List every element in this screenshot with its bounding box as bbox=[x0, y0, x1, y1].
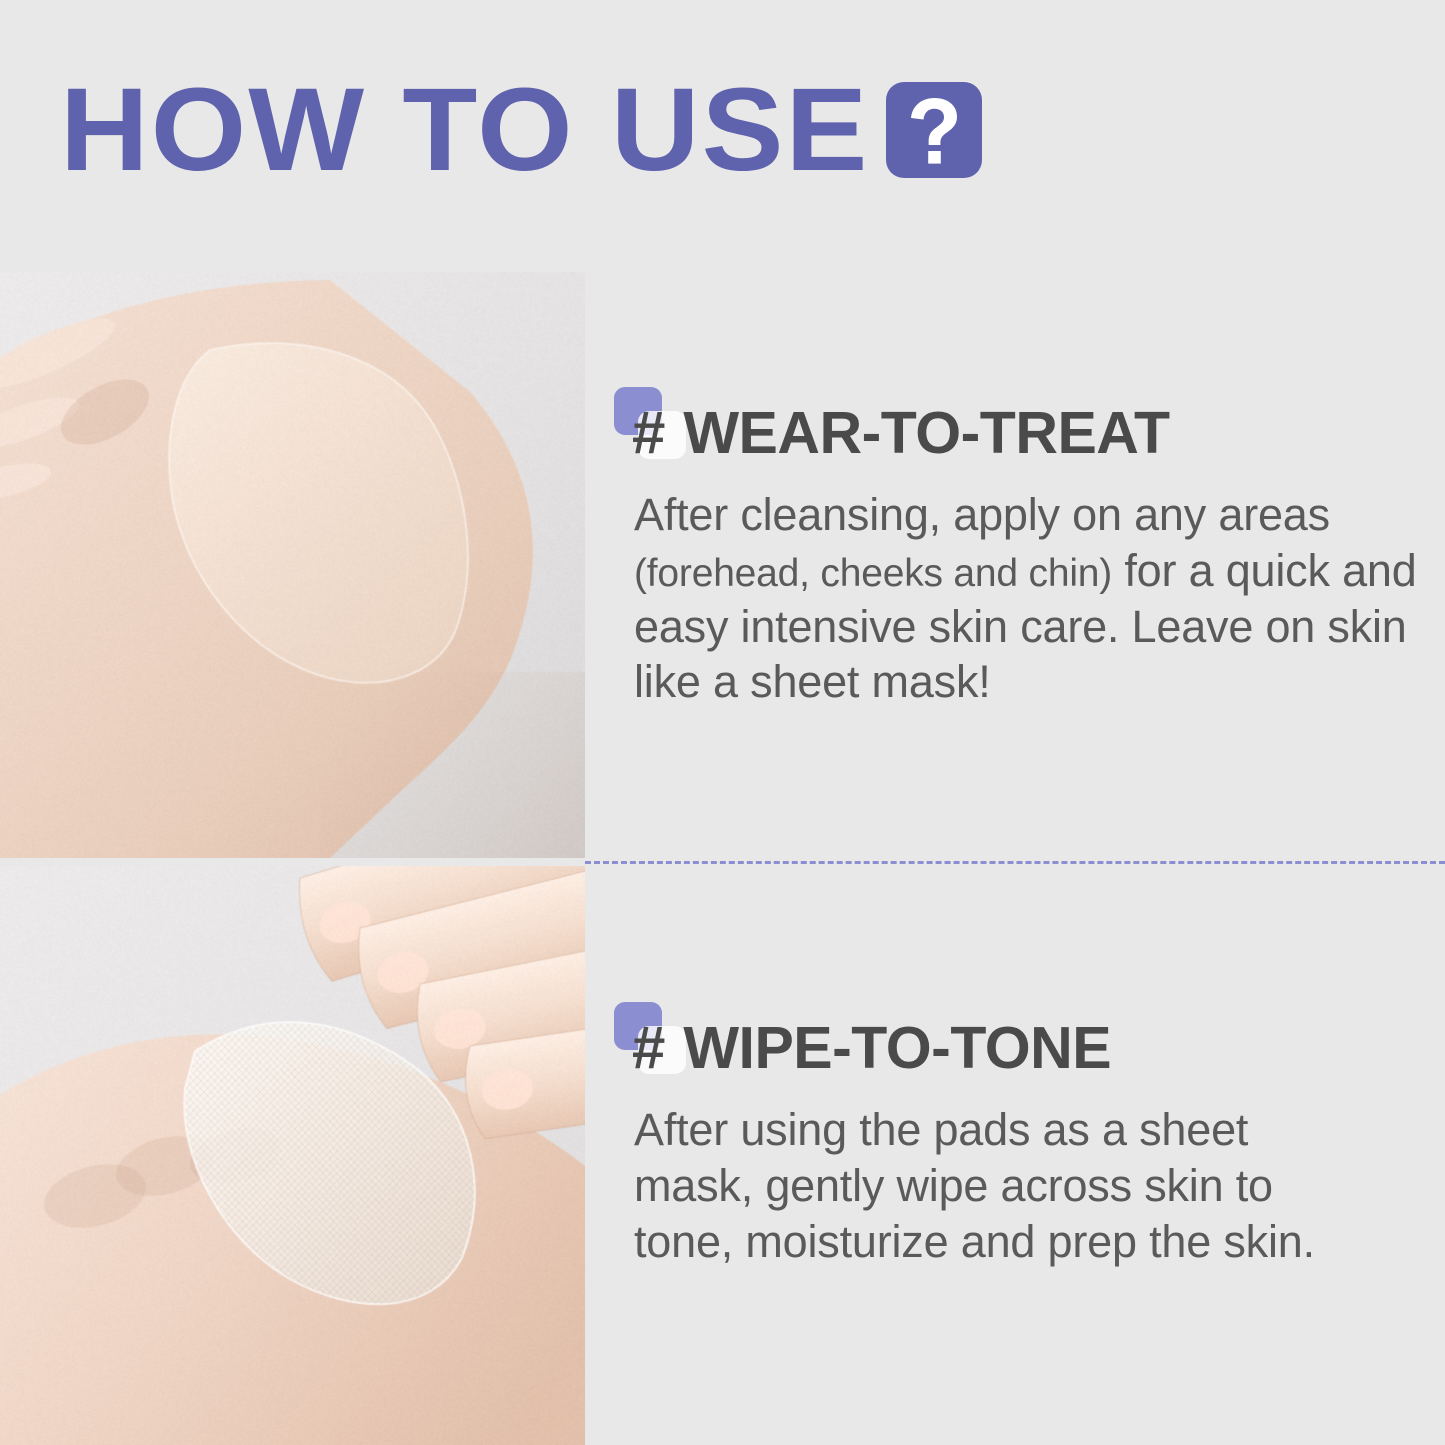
hash-symbol: # bbox=[632, 1018, 665, 1078]
question-mark-icon bbox=[886, 82, 982, 178]
body-part-1: After cleansing, apply on any areas bbox=[634, 489, 1330, 540]
section-body: After using the pads as a sheet mask, ge… bbox=[634, 1102, 1374, 1269]
section-heading: WEAR-TO-TREAT bbox=[683, 404, 1169, 463]
section-wipe-to-tone: # WIPE-TO-TONE After using the pads as a… bbox=[612, 1000, 1432, 1269]
how-to-use-page: HOW TO USE # WEAR-TO-TREAT After cleansi… bbox=[0, 0, 1445, 1445]
hash-symbol: # bbox=[632, 403, 665, 463]
section-heading: WIPE-TO-TONE bbox=[683, 1019, 1111, 1078]
body-parenthetical: (forehead, cheeks and chin) bbox=[634, 552, 1112, 595]
section-heading-row: # WEAR-TO-TREAT bbox=[612, 385, 1432, 465]
photo-wear-to-treat bbox=[0, 272, 585, 858]
photo-wipe-to-tone bbox=[0, 866, 585, 1445]
section-wear-to-treat: # WEAR-TO-TREAT After cleansing, apply o… bbox=[612, 385, 1432, 710]
body-part-1: After using the pads as a sheet mask, ge… bbox=[634, 1104, 1315, 1267]
page-header: HOW TO USE bbox=[60, 70, 982, 190]
page-title: HOW TO USE bbox=[60, 71, 869, 189]
section-divider bbox=[585, 861, 1445, 864]
section-body: After cleansing, apply on any areas (for… bbox=[634, 487, 1432, 710]
section-heading-row: # WIPE-TO-TONE bbox=[612, 1000, 1432, 1080]
